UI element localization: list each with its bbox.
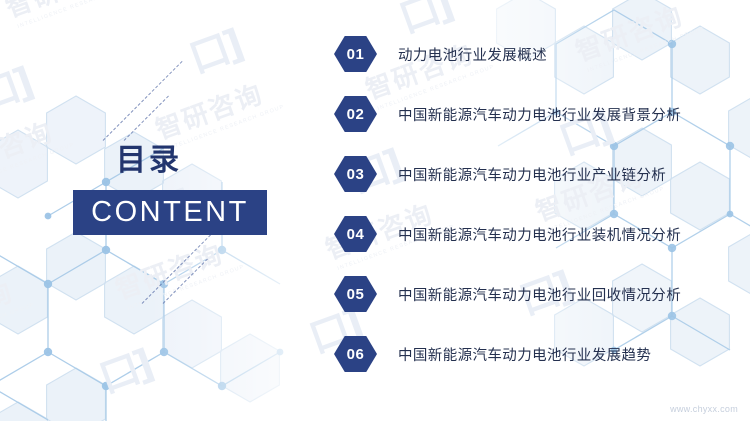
brand-logo-icon: 口] [600,0,667,7]
item-number: 02 [347,106,365,123]
content-title-box: CONTENT [73,190,267,235]
decor-diagonal-line-bottom-long [142,224,222,304]
hexagon-badge: 03 [334,156,377,192]
page-title-en: CONTENT [91,196,249,229]
watermark-text-cn: 智研咨询 [152,79,268,146]
item-number: 06 [347,346,365,363]
hexagon-badge: 05 [334,276,377,312]
watermark-text-cn: 智研咨询 [0,117,58,184]
decor-diagonal-line-top-short [124,96,169,141]
item-label: 中国新能源汽车动力电池行业装机情况分析 [398,224,681,245]
item-label: 中国新能源汽车动力电池行业产业链分析 [398,164,666,185]
decor-diagonal-line-top-long [103,61,183,141]
footer-website-url: www.chyxx.com [670,404,738,414]
brand-logo-icon: 口] [90,333,157,405]
list-item[interactable]: 05 中国新能源汽车动力电池行业回收情况分析 [334,264,744,324]
list-item[interactable]: 04 中国新能源汽车动力电池行业装机情况分析 [334,204,744,264]
item-label: 动力电池行业发展概述 [398,44,547,65]
list-item[interactable]: 03 中国新能源汽车动力电池行业产业链分析 [334,144,744,204]
watermark-text-cn: 智研咨询 [0,277,18,344]
slide-canvas: 智研咨询 INTELLIGENCE RESEARCH GROUP 智研咨询 IN… [0,0,750,421]
decor-diagonal-line-bottom-short [163,259,208,304]
item-number: 01 [347,46,365,63]
item-label: 中国新能源汽车动力电池行业发展背景分析 [398,104,681,125]
list-item[interactable]: 02 中国新能源汽车动力电池行业发展背景分析 [334,84,744,144]
list-item[interactable]: 06 中国新能源汽车动力电池行业发展趋势 [334,324,744,384]
item-label: 中国新能源汽车动力电池行业发展趋势 [398,344,651,365]
watermark-text-en: INTELLIGENCE RESEARCH GROUP [17,0,136,30]
hexagon-badge: 01 [334,36,377,72]
list-item[interactable]: 01 动力电池行业发展概述 [334,24,744,84]
page-title-cn: 目录 [116,146,182,176]
hexagon-badge: 02 [334,96,377,132]
hexagon-badge: 06 [334,336,377,372]
contents-list: 01 动力电池行业发展概述 02 中国新能源汽车动力电池行业发展背景分析 03 … [334,24,744,384]
watermark-text-en: INTELLIGENCE RESEARCH GROUP [0,302,35,350]
item-label: 中国新能源汽车动力电池行业回收情况分析 [398,284,681,305]
watermark-text-en: INTELLIGENCE RESEARCH GROUP [127,264,246,312]
item-number: 05 [347,286,365,303]
watermark-text-en: INTELLIGENCE RESEARCH GROUP [0,142,75,190]
item-number: 03 [347,166,365,183]
brand-logo-icon: 口] [180,13,247,85]
brand-logo-icon: 口] [0,51,37,123]
watermark-text-cn: 智研咨询 [2,0,118,24]
item-number: 04 [347,226,365,243]
watermark-text-en: INTELLIGENCE RESEARCH GROUP [167,104,286,152]
hexagon-badge: 04 [334,216,377,252]
